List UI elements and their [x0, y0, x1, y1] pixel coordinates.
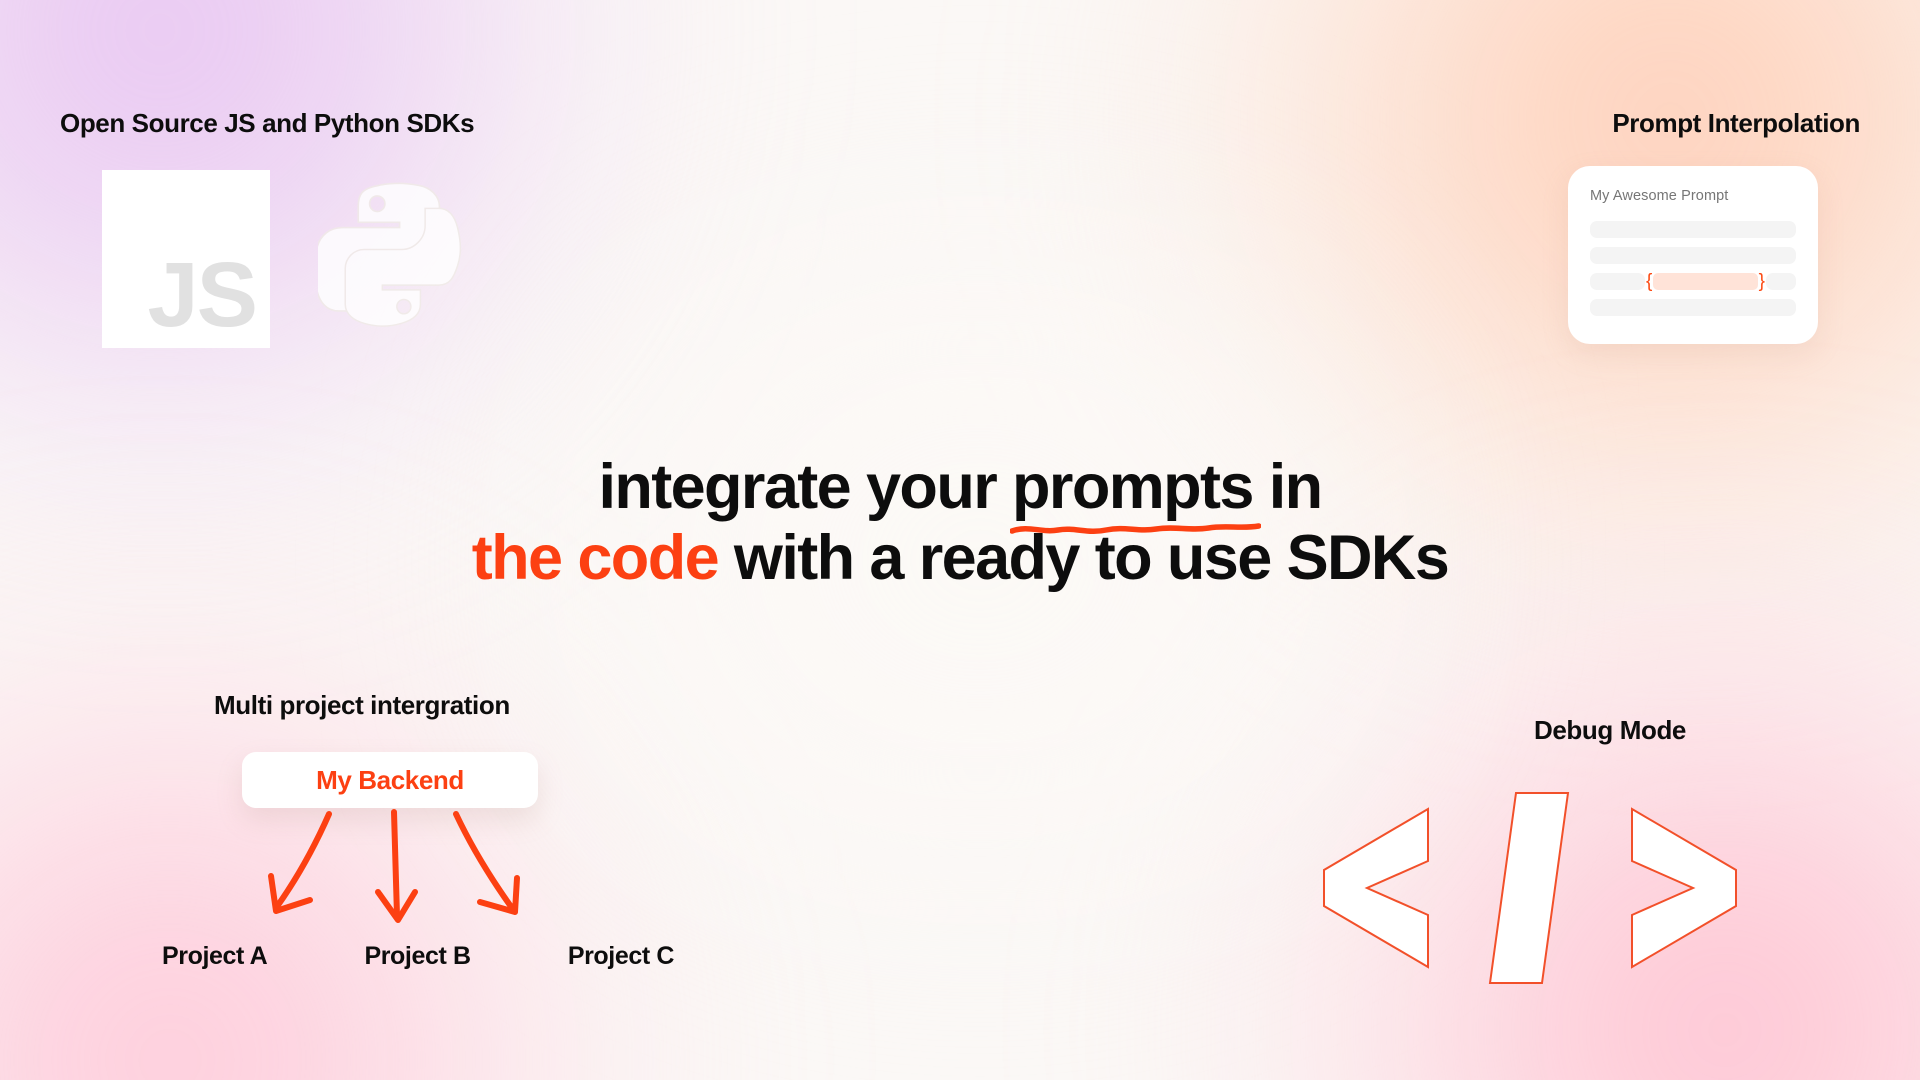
project-label-a: Project A — [162, 942, 267, 971]
arrow-shaft-left — [276, 814, 329, 908]
sdk-logo-row: JS — [102, 170, 483, 348]
prompt-skeleton-segment-left — [1590, 273, 1645, 290]
prompt-skeleton-line-2 — [1590, 247, 1796, 264]
headline-underlined-word-wrap: prompts — [1012, 452, 1253, 523]
project-arrows — [214, 808, 634, 938]
my-backend-button[interactable]: My Backend — [242, 752, 538, 808]
prompt-interpolation-section: Prompt Interpolation My Awesome Prompt {… — [1612, 108, 1860, 139]
prompt-variable-line: { } — [1590, 273, 1796, 290]
angle-bracket-left-icon — [1324, 809, 1428, 967]
prompt-card: My Awesome Prompt { } — [1568, 166, 1818, 344]
headline: integrate your prompts in the code with … — [0, 452, 1920, 593]
multi-project-section: Multi project intergration My Backend Pr… — [214, 690, 634, 721]
headline-accent-text: the code — [472, 523, 718, 593]
prompt-section-title: Prompt Interpolation — [1612, 108, 1860, 139]
open-source-sdks-section: Open Source JS and Python SDKs JS — [60, 108, 474, 139]
project-label-row: Project A Project B Project C — [158, 942, 678, 971]
code-tag-icon — [1320, 773, 1740, 1003]
arrow-shaft-middle — [394, 812, 397, 916]
slash-icon — [1490, 793, 1568, 983]
headline-line-1: integrate your prompts in — [0, 452, 1920, 523]
headline-underlined-word: prompts — [1012, 452, 1253, 522]
prompt-card-title: My Awesome Prompt — [1590, 188, 1796, 204]
prompt-skeleton-line-4 — [1590, 299, 1796, 316]
project-label-c: Project C — [568, 942, 674, 971]
multi-project-title: Multi project intergration — [214, 690, 634, 721]
python-logo — [318, 172, 483, 347]
squiggle-underline-icon — [1010, 520, 1261, 536]
headline-line1-post: in — [1253, 452, 1322, 522]
my-backend-label: My Backend — [316, 765, 464, 796]
javascript-logo-label: JS — [147, 253, 270, 348]
prompt-skeleton-line-1 — [1590, 221, 1796, 238]
angle-bracket-right-icon — [1632, 809, 1736, 967]
headline-line-2: the code with a ready to use SDKs — [0, 523, 1920, 594]
headline-line1-pre: integrate your — [598, 452, 1012, 522]
sdk-section-title: Open Source JS and Python SDKs — [60, 108, 474, 139]
close-brace-icon: } — [1759, 272, 1765, 291]
open-brace-icon: { — [1646, 272, 1652, 291]
prompt-skeleton-segment-right — [1766, 273, 1796, 290]
debug-mode-title: Debug Mode — [1430, 715, 1790, 746]
javascript-logo: JS — [102, 170, 270, 348]
prompt-variable-fill — [1653, 273, 1757, 290]
project-label-b: Project B — [364, 942, 470, 971]
arrow-shaft-right — [456, 814, 512, 908]
debug-mode-section: Debug Mode — [1430, 715, 1790, 746]
